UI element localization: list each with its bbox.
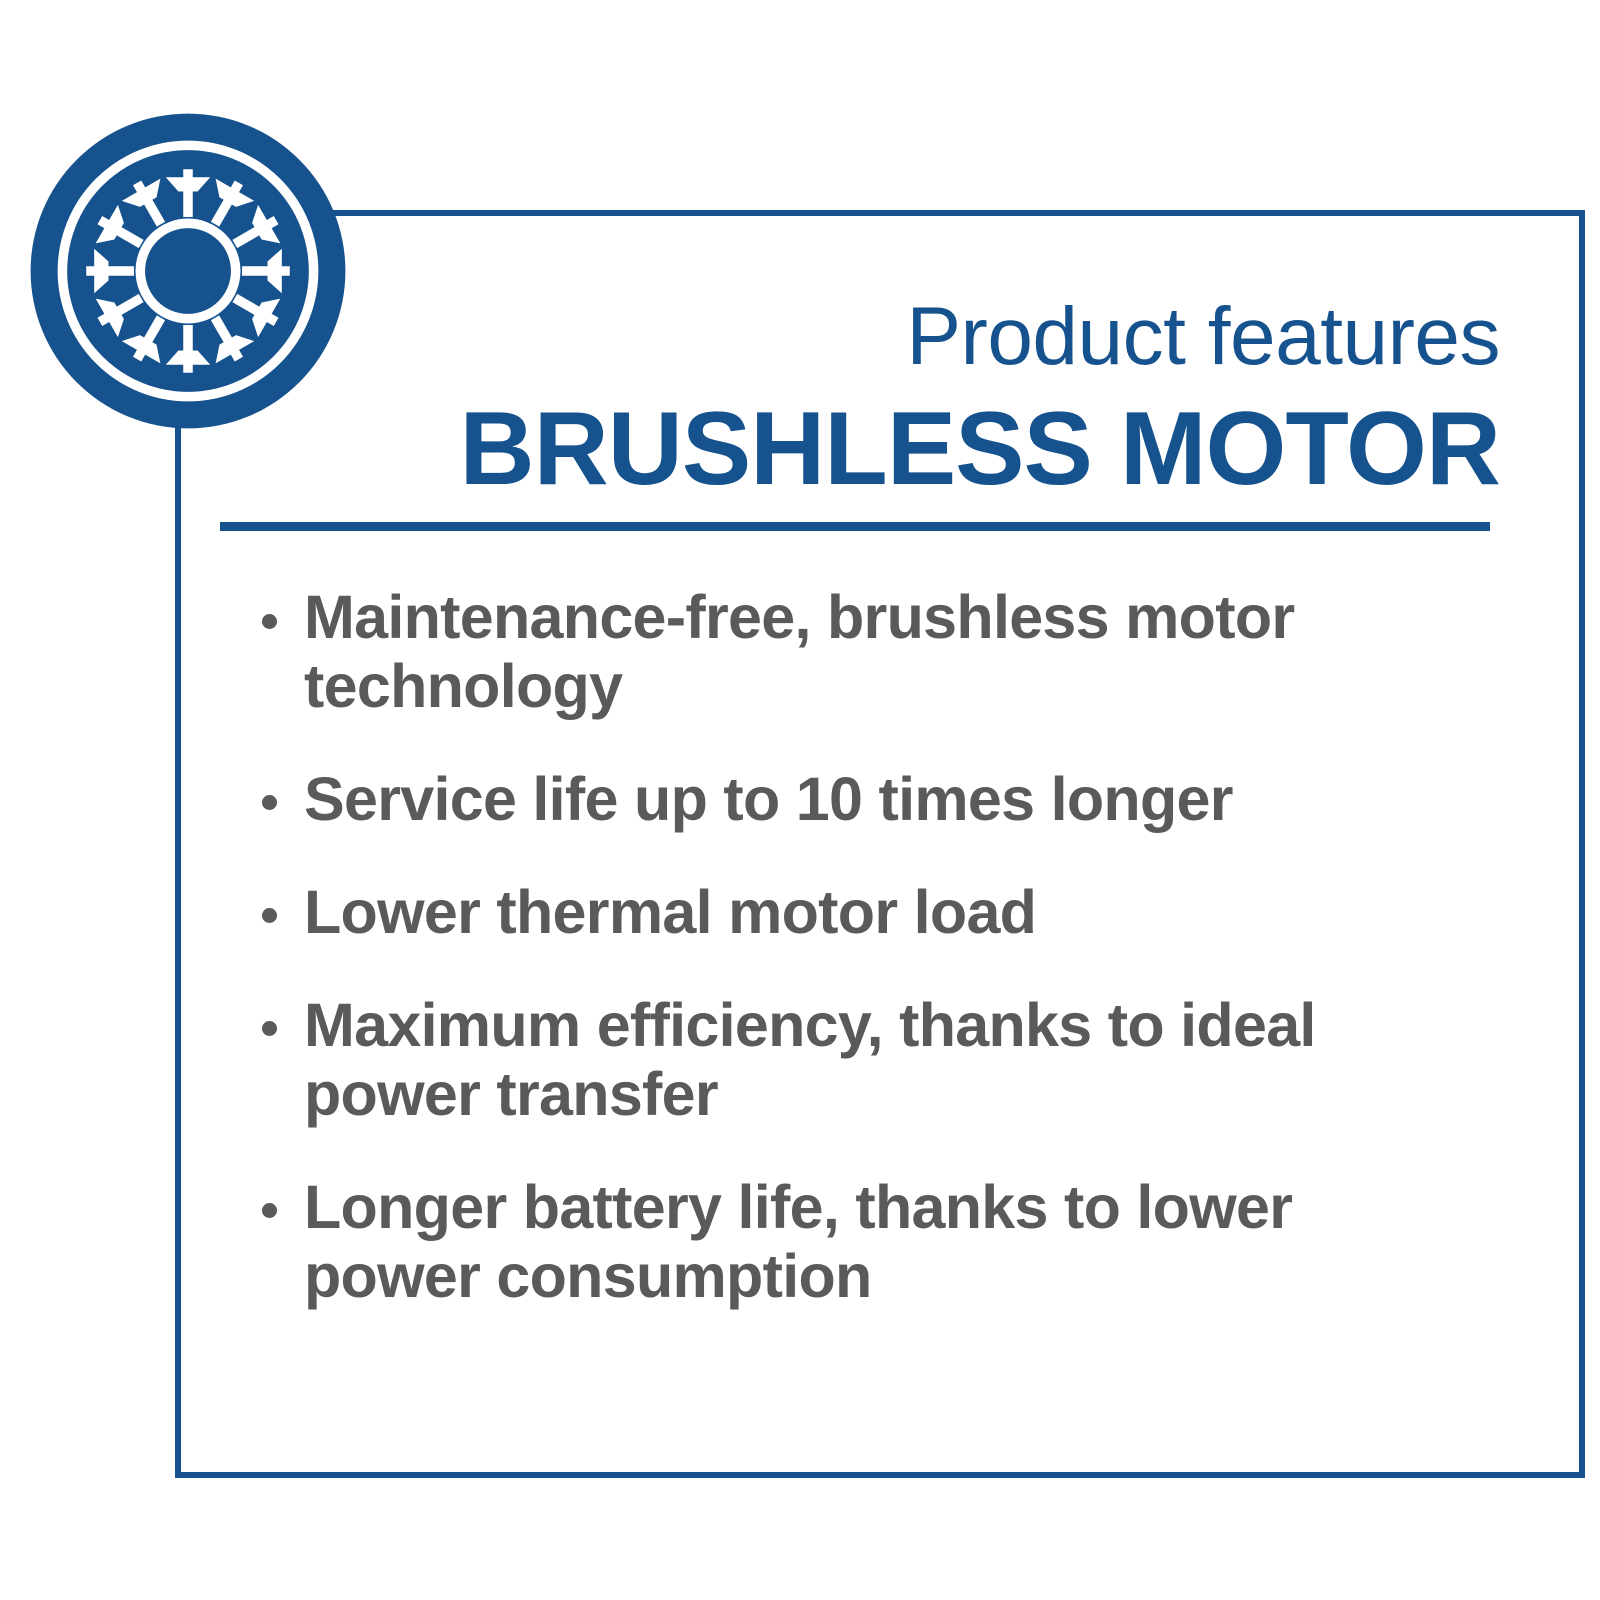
- list-item-label: Longer battery life, thanks to lower pow…: [304, 1173, 1292, 1310]
- list-item: Longer battery life, thanks to lower pow…: [262, 1173, 1484, 1311]
- list-item-label: Maximum efficiency, thanks to ideal powe…: [304, 991, 1316, 1128]
- product-feature-card: Product features BRUSHLESS MOTOR Mainten…: [0, 0, 1600, 1600]
- list-item-label: Lower thermal motor load: [304, 878, 1036, 946]
- brushless-motor-rotor-icon: [29, 112, 347, 430]
- title-underline-rule: [220, 522, 1490, 531]
- list-item: Lower thermal motor load: [262, 878, 1484, 947]
- bullet-dot-icon: [262, 795, 277, 810]
- bullet-dot-icon: [262, 614, 277, 629]
- list-item: Maintenance-free, brushless motor techno…: [262, 583, 1484, 721]
- eyebrow-label: Product features: [205, 296, 1500, 378]
- list-item: Maximum efficiency, thanks to ideal powe…: [262, 991, 1484, 1129]
- list-item: Service life up to 10 times longer: [262, 765, 1484, 834]
- bullet-dot-icon: [262, 1203, 277, 1218]
- list-item-label: Service life up to 10 times longer: [304, 765, 1233, 833]
- bullet-dot-icon: [262, 1021, 277, 1036]
- feature-list: Maintenance-free, brushless motor techno…: [205, 583, 1500, 1310]
- page-title: BRUSHLESS MOTOR: [205, 396, 1500, 502]
- list-item-label: Maintenance-free, brushless motor techno…: [304, 583, 1294, 720]
- card-content: Product features BRUSHLESS MOTOR Mainten…: [205, 210, 1500, 1310]
- bullet-dot-icon: [262, 908, 277, 923]
